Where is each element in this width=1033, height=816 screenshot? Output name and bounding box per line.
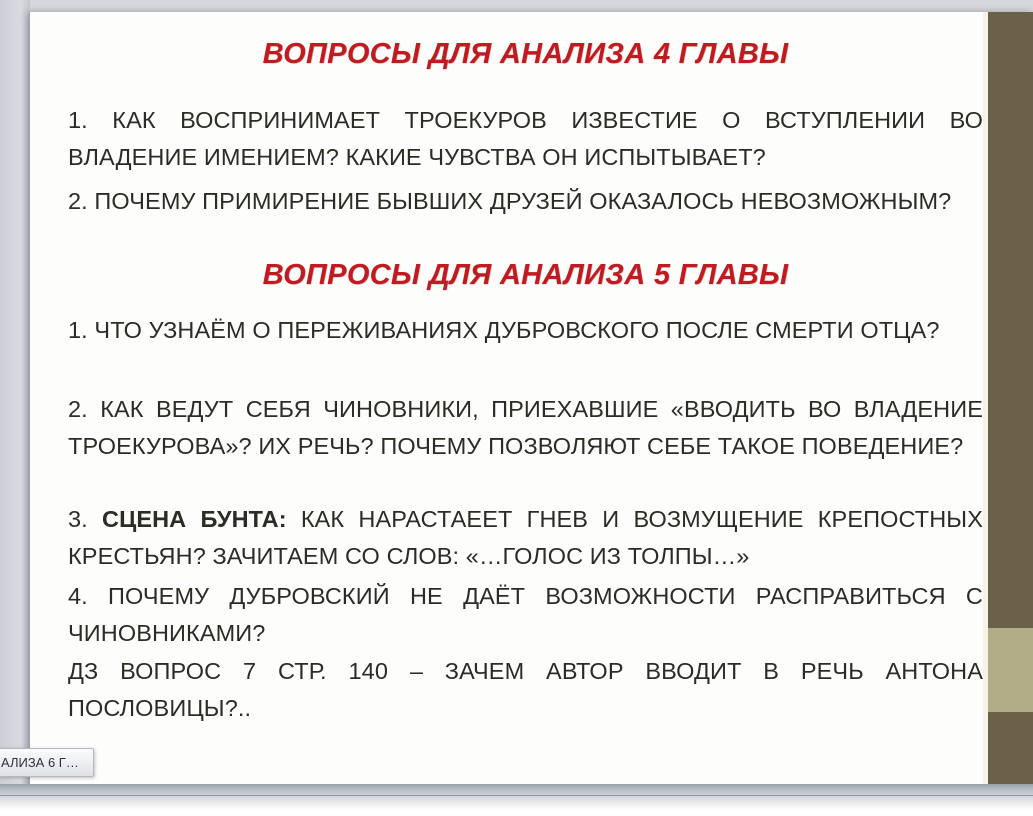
slide-heading-chapter-5: ВОПРОСЫ ДЛЯ АНАЛИЗА 5 ГЛАВЫ: [68, 260, 983, 292]
question-ch5-2: 2. КАК ВЕДУТ СЕБЯ ЧИНОВНИКИ, ПРИЕХАВШИЕ …: [68, 391, 983, 465]
question-ch4-2: 2. ПОЧЕМУ ПРИМИРЕНИЕ БЫВШИХ ДРУЗЕЙ ОКАЗА…: [68, 183, 983, 220]
slide-decorative-block: [988, 628, 1033, 712]
question-ch4-1: 1. КАК ВОСПРИНИМАЕТ ТРОЕКУРОВ ИЗВЕСТИЕ О…: [68, 102, 983, 176]
question-ch5-3-prefix: 3.: [68, 506, 102, 532]
window-bottom-strip: [0, 784, 1033, 816]
chrome-left-edge: [0, 0, 30, 784]
slide-thumbnail-tab[interactable]: АЛИЗА 6 Г…: [0, 748, 94, 777]
screenshot-viewport: ВОПРОСЫ ДЛЯ АНАЛИЗА 4 ГЛАВЫ 1. КАК ВОСПР…: [0, 0, 1033, 816]
presentation-slide[interactable]: ВОПРОСЫ ДЛЯ АНАЛИЗА 4 ГЛАВЫ 1. КАК ВОСПР…: [30, 12, 1033, 787]
homework-assignment: ДЗ ВОПРОС 7 СТР. 140 – ЗАЧЕМ АВТОР ВВОДИ…: [68, 653, 983, 727]
slide-content: ВОПРОСЫ ДЛЯ АНАЛИЗА 4 ГЛАВЫ 1. КАК ВОСПР…: [68, 12, 983, 787]
question-ch5-3-emphasis: СЦЕНА БУНТА:: [102, 506, 287, 532]
slide-heading-chapter-4: ВОПРОСЫ ДЛЯ АНАЛИЗА 4 ГЛАВЫ: [68, 39, 983, 71]
question-ch5-1: 1. ЧТО УЗНАЁМ О ПЕРЕЖИВАНИЯХ ДУБРОВСКОГО…: [68, 312, 983, 349]
window-bottom-divider: [0, 795, 1033, 796]
question-ch5-3: 3. СЦЕНА БУНТА: КАК НАРАСТАЕЕТ ГНЕВ И ВО…: [68, 501, 983, 575]
question-ch5-4: 4. ПОЧЕМУ ДУБРОВСКИЙ НЕ ДАЁТ ВОЗМОЖНОСТИ…: [68, 578, 983, 652]
slide-thumbnail-tab-label: АЛИЗА 6 Г…: [0, 755, 79, 770]
slide-decorative-sidebar: [988, 12, 1033, 787]
